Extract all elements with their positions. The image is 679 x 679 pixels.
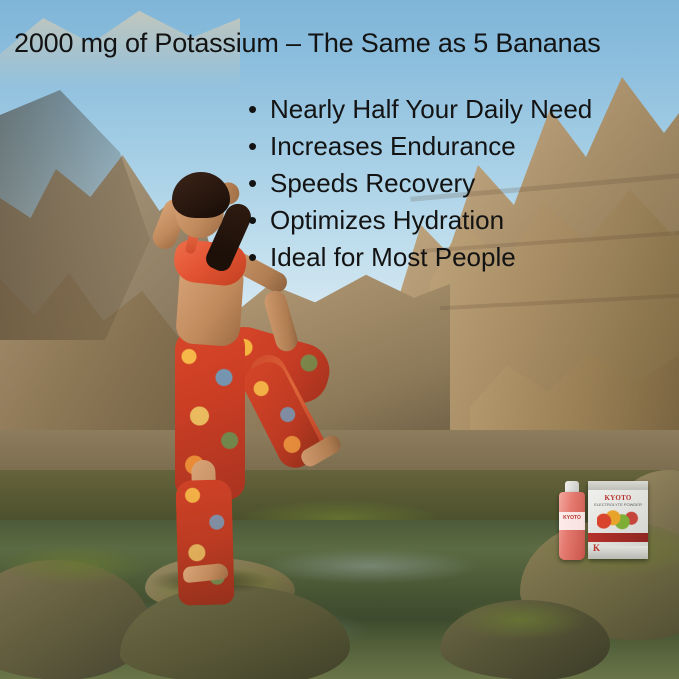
- bottle-label-text: KYOTO: [559, 515, 585, 521]
- pouch-brand-text: KYOTO: [588, 494, 648, 502]
- pouch-subtitle-text: ELECTROLYTE POWDER: [588, 502, 648, 507]
- headline-text: 2000 mg of Potassium – The Same as 5 Ban…: [14, 28, 674, 59]
- bullet-marker-icon: •: [248, 129, 270, 163]
- fruit-illustration-icon: [597, 509, 639, 531]
- bullet-marker-icon: •: [248, 166, 270, 200]
- hair: [172, 172, 230, 218]
- pouch-logo-mark: K: [593, 543, 600, 553]
- pouch-color-band: [588, 533, 648, 542]
- bullet-item: • Nearly Half Your Daily Need: [248, 92, 668, 126]
- bullet-label: Speeds Recovery: [270, 166, 475, 200]
- bullet-label: Optimizes Hydration: [270, 203, 504, 237]
- leggings-lower: [175, 479, 234, 605]
- bullet-marker-icon: •: [248, 240, 270, 274]
- bullet-item: • Optimizes Hydration: [248, 203, 668, 237]
- bullet-item: • Ideal for Most People: [248, 240, 668, 274]
- bullet-label: Nearly Half Your Daily Need: [270, 92, 592, 126]
- benefits-bullet-list: • Nearly Half Your Daily Need • Increase…: [248, 92, 668, 277]
- bullet-marker-icon: •: [248, 203, 270, 237]
- bullet-item: • Speeds Recovery: [248, 166, 668, 200]
- pouch-top-seal: [588, 481, 648, 490]
- product-poster-image: KYOTO KYOTO ELECTROLYTE POWDER K 2000: [0, 0, 679, 679]
- bullet-label: Ideal for Most People: [270, 240, 516, 274]
- bullet-marker-icon: •: [248, 92, 270, 126]
- product-pouch: KYOTO ELECTROLYTE POWDER K: [588, 481, 648, 559]
- bullet-label: Increases Endurance: [270, 129, 516, 163]
- bullet-item: • Increases Endurance: [248, 129, 668, 163]
- moss-patch: [455, 600, 585, 640]
